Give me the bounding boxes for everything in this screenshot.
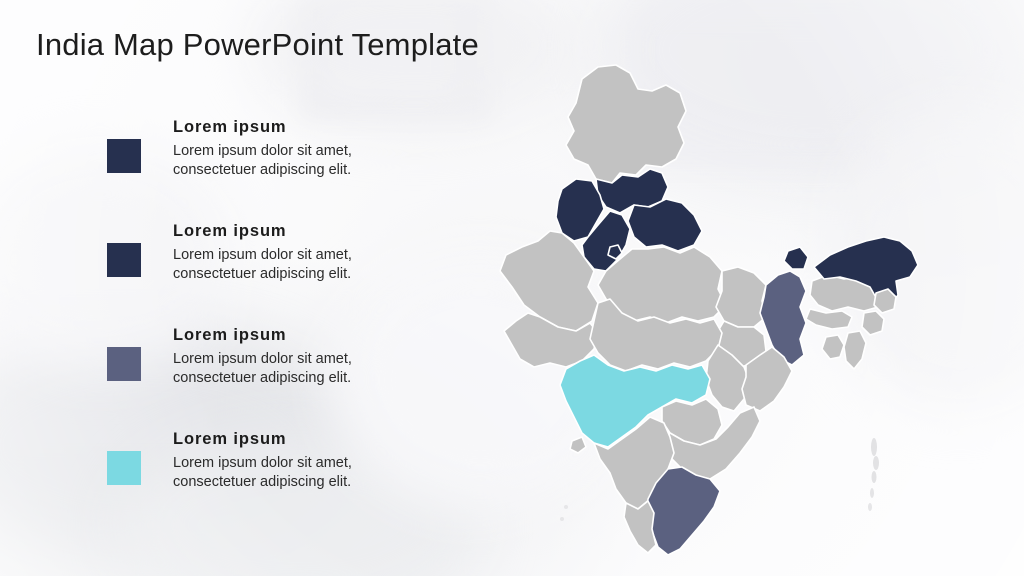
legend-text-3: Lorem ipsum Lorem ipsum dolor sit amet, … — [173, 326, 463, 389]
legend-text-2: Lorem ipsum Lorem ipsum dolor sit amet, … — [173, 222, 463, 285]
legend-body-4: Lorem ipsum dolor sit amet, consectetuer… — [173, 454, 463, 493]
map-region-jammu-kashmir[interactable] — [566, 65, 686, 183]
india-map[interactable] — [470, 55, 950, 555]
map-region-kerala[interactable] — [624, 501, 656, 553]
map-region-tripura[interactable] — [822, 335, 844, 359]
map-region-lakshadweep[interactable] — [560, 505, 568, 521]
legend-heading-1: Lorem ipsum — [173, 118, 463, 137]
page-title: India Map PowerPoint Template — [36, 27, 479, 63]
map-region-meghalaya[interactable] — [806, 309, 852, 329]
map-region-bihar[interactable] — [716, 267, 766, 327]
legend-body-3: Lorem ipsum dolor sit amet, consectetuer… — [173, 350, 463, 389]
map-region-sikkim[interactable] — [784, 247, 808, 269]
legend-swatch-2 — [107, 243, 141, 277]
legend-swatch-3 — [107, 347, 141, 381]
legend-swatch-4 — [107, 451, 141, 485]
map-region-nagaland[interactable] — [874, 289, 896, 313]
legend-heading-2: Lorem ipsum — [173, 222, 463, 241]
legend-item-4[interactable]: Lorem ipsum Lorem ipsum dolor sit amet, … — [107, 430, 467, 534]
legend-item-3[interactable]: Lorem ipsum Lorem ipsum dolor sit amet, … — [107, 326, 467, 430]
legend-heading-4: Lorem ipsum — [173, 430, 463, 449]
map-region-uttarakhand[interactable] — [628, 199, 702, 251]
slide-canvas: India Map PowerPoint Template Lorem ipsu… — [0, 0, 1024, 576]
legend-body-2: Lorem ipsum dolor sit amet, consectetuer… — [173, 246, 463, 285]
map-region-manipur[interactable] — [862, 311, 884, 335]
legend-list: Lorem ipsum Lorem ipsum dolor sit amet, … — [107, 118, 467, 534]
legend-heading-3: Lorem ipsum — [173, 326, 463, 345]
legend-body-1: Lorem ipsum dolor sit amet, consectetuer… — [173, 142, 463, 181]
legend-text-1: Lorem ipsum Lorem ipsum dolor sit amet, … — [173, 118, 463, 181]
legend-item-2[interactable]: Lorem ipsum Lorem ipsum dolor sit amet, … — [107, 222, 467, 326]
legend-swatch-1 — [107, 139, 141, 173]
legend-text-4: Lorem ipsum Lorem ipsum dolor sit amet, … — [173, 430, 463, 493]
map-region-mizoram[interactable] — [844, 331, 866, 369]
map-region-goa[interactable] — [570, 437, 586, 453]
map-region-andaman-nicobar[interactable] — [868, 438, 879, 511]
legend-item-1[interactable]: Lorem ipsum Lorem ipsum dolor sit amet, … — [107, 118, 467, 222]
